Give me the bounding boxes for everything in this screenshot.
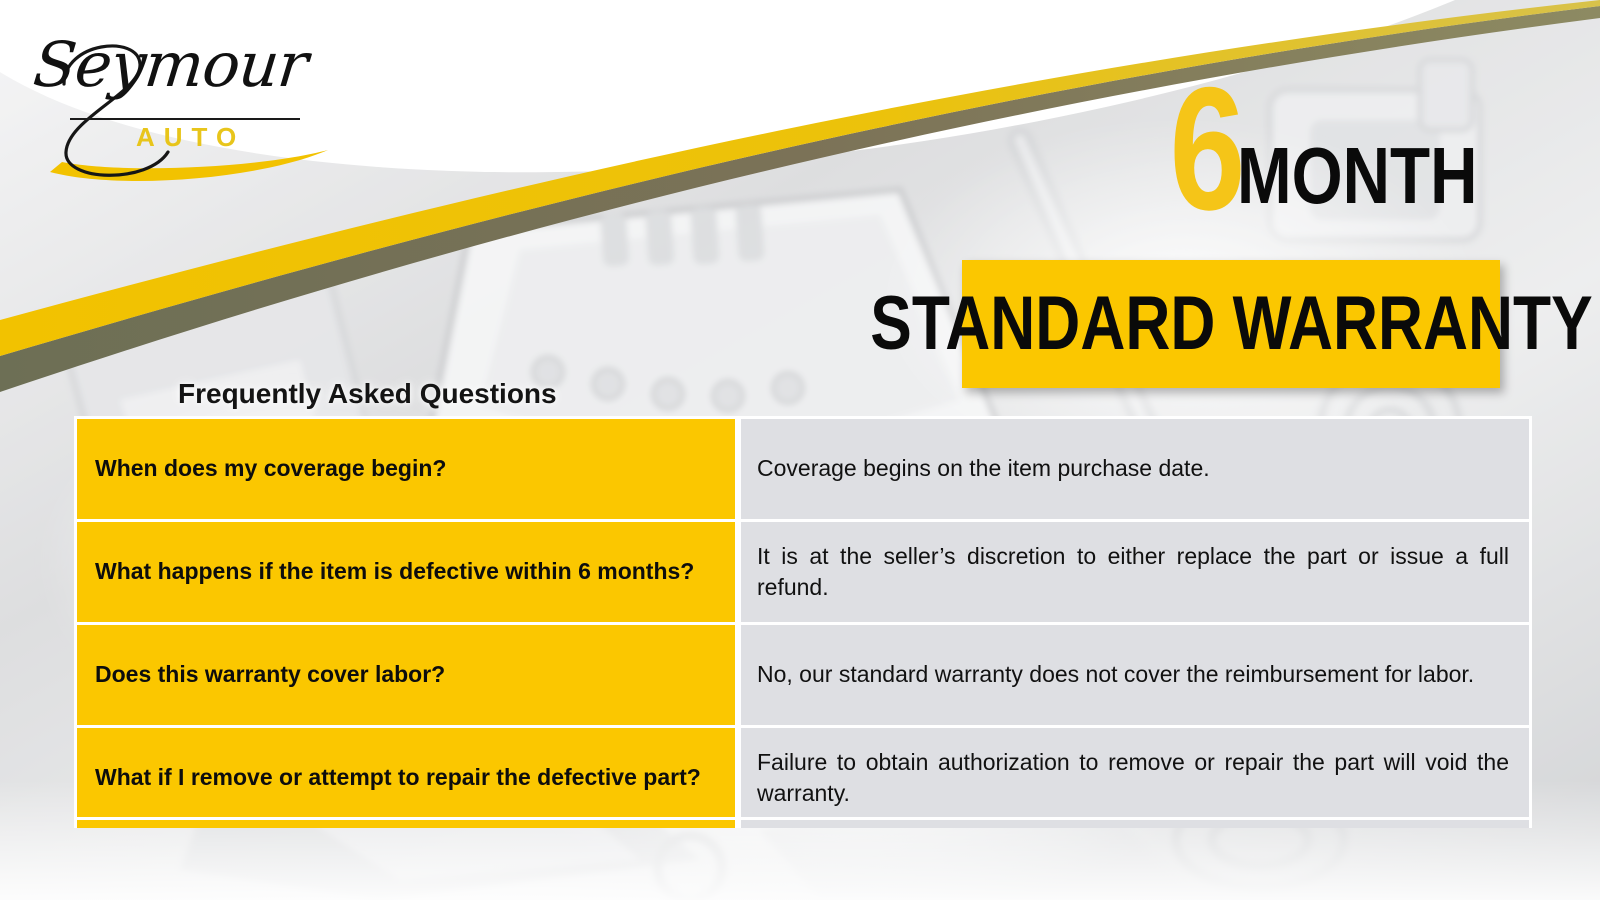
faq-answer-text: It is at the seller’s discretion to eith…: [757, 541, 1509, 603]
warranty-banner-title: STANDARD WARRANTY: [870, 286, 1592, 362]
faq-question-text: What if I remove or attempt to repair th…: [95, 762, 701, 793]
faq-answer-cell: Coverage begins on the item purchase dat…: [738, 419, 1532, 519]
faq-answer-cell: No, our standard warranty does not cover…: [738, 625, 1532, 725]
faq-question-cell: What if I remove or attempt to repair th…: [74, 728, 738, 828]
faq-question-cell: When does my coverage begin?: [74, 419, 738, 519]
duration-number: 6: [1170, 78, 1243, 222]
warranty-slide: Seymour AUTO 6 MONTH STANDARD WARRANTY F…: [0, 0, 1600, 900]
faq-answer-text: No, our standard warranty does not cover…: [757, 659, 1509, 690]
faq-question-text: What happens if the item is defective wi…: [95, 556, 694, 587]
table-row: Does this warranty cover labor? No, our …: [74, 625, 1532, 728]
duration-unit: MONTH: [1237, 136, 1477, 222]
faq-heading: Frequently Asked Questions: [178, 378, 557, 410]
duration-headline: 6 MONTH: [1149, 78, 1530, 222]
table-row: What happens if the item is defective wi…: [74, 522, 1532, 625]
faq-answer-text: Coverage begins on the item purchase dat…: [757, 453, 1509, 484]
table-bottom-border: [74, 817, 1532, 820]
faq-answer-cell: Failure to obtain authorization to remov…: [738, 728, 1532, 828]
faq-table: When does my coverage begin? Coverage be…: [74, 419, 1532, 828]
faq-question-cell: Does this warranty cover labor?: [74, 625, 738, 725]
faq-question-text: Does this warranty cover labor?: [95, 659, 445, 690]
table-row: When does my coverage begin? Coverage be…: [74, 419, 1532, 522]
logo-underline: [70, 118, 300, 120]
seymour-auto-logo: Seymour AUTO: [28, 22, 338, 182]
faq-question-cell: What happens if the item is defective wi…: [74, 522, 738, 622]
logo-subtext: AUTO: [136, 122, 245, 153]
table-row: What if I remove or attempt to repair th…: [74, 728, 1532, 828]
standard-warranty-banner: STANDARD WARRANTY: [962, 260, 1500, 388]
logo-wordmark: Seymour: [30, 28, 311, 101]
faq-question-text: When does my coverage begin?: [95, 453, 446, 484]
faq-answer-text: Failure to obtain authorization to remov…: [757, 747, 1509, 809]
faq-answer-cell: It is at the seller’s discretion to eith…: [738, 522, 1532, 622]
